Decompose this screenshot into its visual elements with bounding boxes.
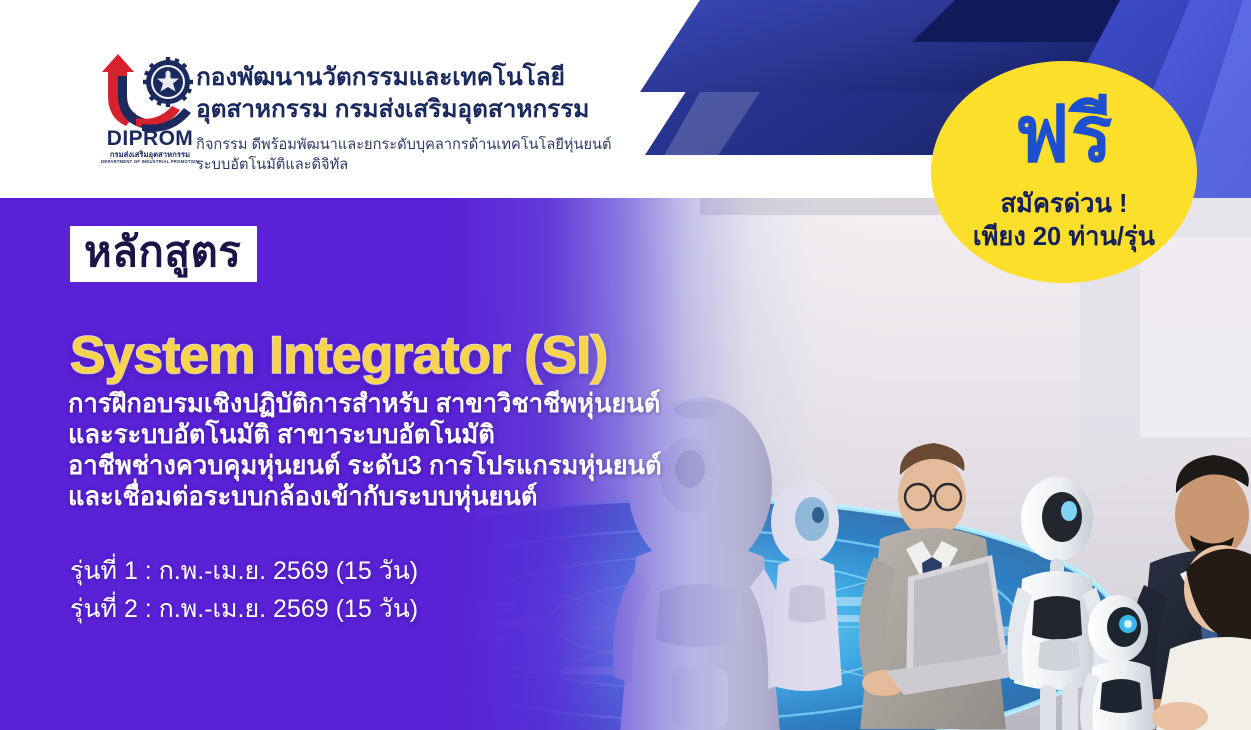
free-urgency-line: สมัครด่วน ! [931,188,1197,221]
description-line: อาชีพช่างควบคุมหุ่นยนต์ ระดับ3 การโปรแกร… [68,451,662,482]
free-badge: ฟรี สมัครด่วน ! เพียง 20 ท่าน/รุ่น [931,61,1197,283]
course-batches: รุ่นที่ 1 : ก.พ.-เม.ย. 2569 (15 วัน) รุ่… [70,552,418,628]
activity-line-1: กิจกรรม ดีพร้อมพัฒนาและยกระดับบุคลากรด้า… [196,135,611,155]
diprom-english-name: DEPARTMENT OF INDUSTRIAL PROMOTION [96,160,204,164]
description-line: และเชื่อมต่อระบบกล้องเข้ากับระบบหุ่นยนต์ [68,482,662,513]
batch-line: รุ่นที่ 2 : ก.พ.-เม.ย. 2569 (15 วัน) [70,590,418,628]
course-description: การฝึกอบรมเชิงปฏิบัติการสำหรับ สาขาวิชาช… [68,389,662,513]
description-line: การฝึกอบรมเชิงปฏิบัติการสำหรับ สาขาวิชาช… [68,389,662,420]
org-name-line-2: อุตสาหกรรม กรมส่งเสริมอุตสาหกรรม [196,94,611,126]
free-seats-line: เพียง 20 ท่าน/รุ่น [931,221,1197,254]
diprom-logo: DIPROM กรมส่งเสริมอุตสาหกรรม DEPARTMENT … [96,52,204,164]
kicker-label: หลักสูตร [84,231,241,273]
organization-text: กองพัฒนานวัตกรรมและเทคโนโลยี อุตสาหกรรม … [196,62,611,175]
course-title: System Integrator (SI) [70,329,608,382]
diprom-thai-name: กรมส่งเสริมอุตสาหกรรม [96,151,204,159]
free-headline: ฟรี [931,95,1197,173]
kicker-label-box: หลักสูตร [70,226,257,282]
batch-line: รุ่นที่ 1 : ก.พ.-เม.ย. 2569 (15 วัน) [70,552,418,590]
diprom-arrow-gear-icon [96,52,204,132]
activity-text: กิจกรรม ดีพร้อมพัฒนาและยกระดับบุคลากรด้า… [196,135,611,175]
diprom-wordmark: DIPROM กรมส่งเสริมอุตสาหกรรม DEPARTMENT … [96,128,204,164]
diprom-wordmark-text: DIPROM [96,128,204,149]
description-line: และระบบอัตโนมัติ สาขาระบบอัตโนมัติ [68,420,662,451]
org-name-line-1: กองพัฒนานวัตกรรมและเทคโนโลยี [196,62,611,94]
promotional-banner: หลักสูตร System Integrator (SI) การฝึกอบ… [0,0,1251,730]
activity-line-2: ระบบอัตโนมัติและดิจิทัล [196,155,611,175]
